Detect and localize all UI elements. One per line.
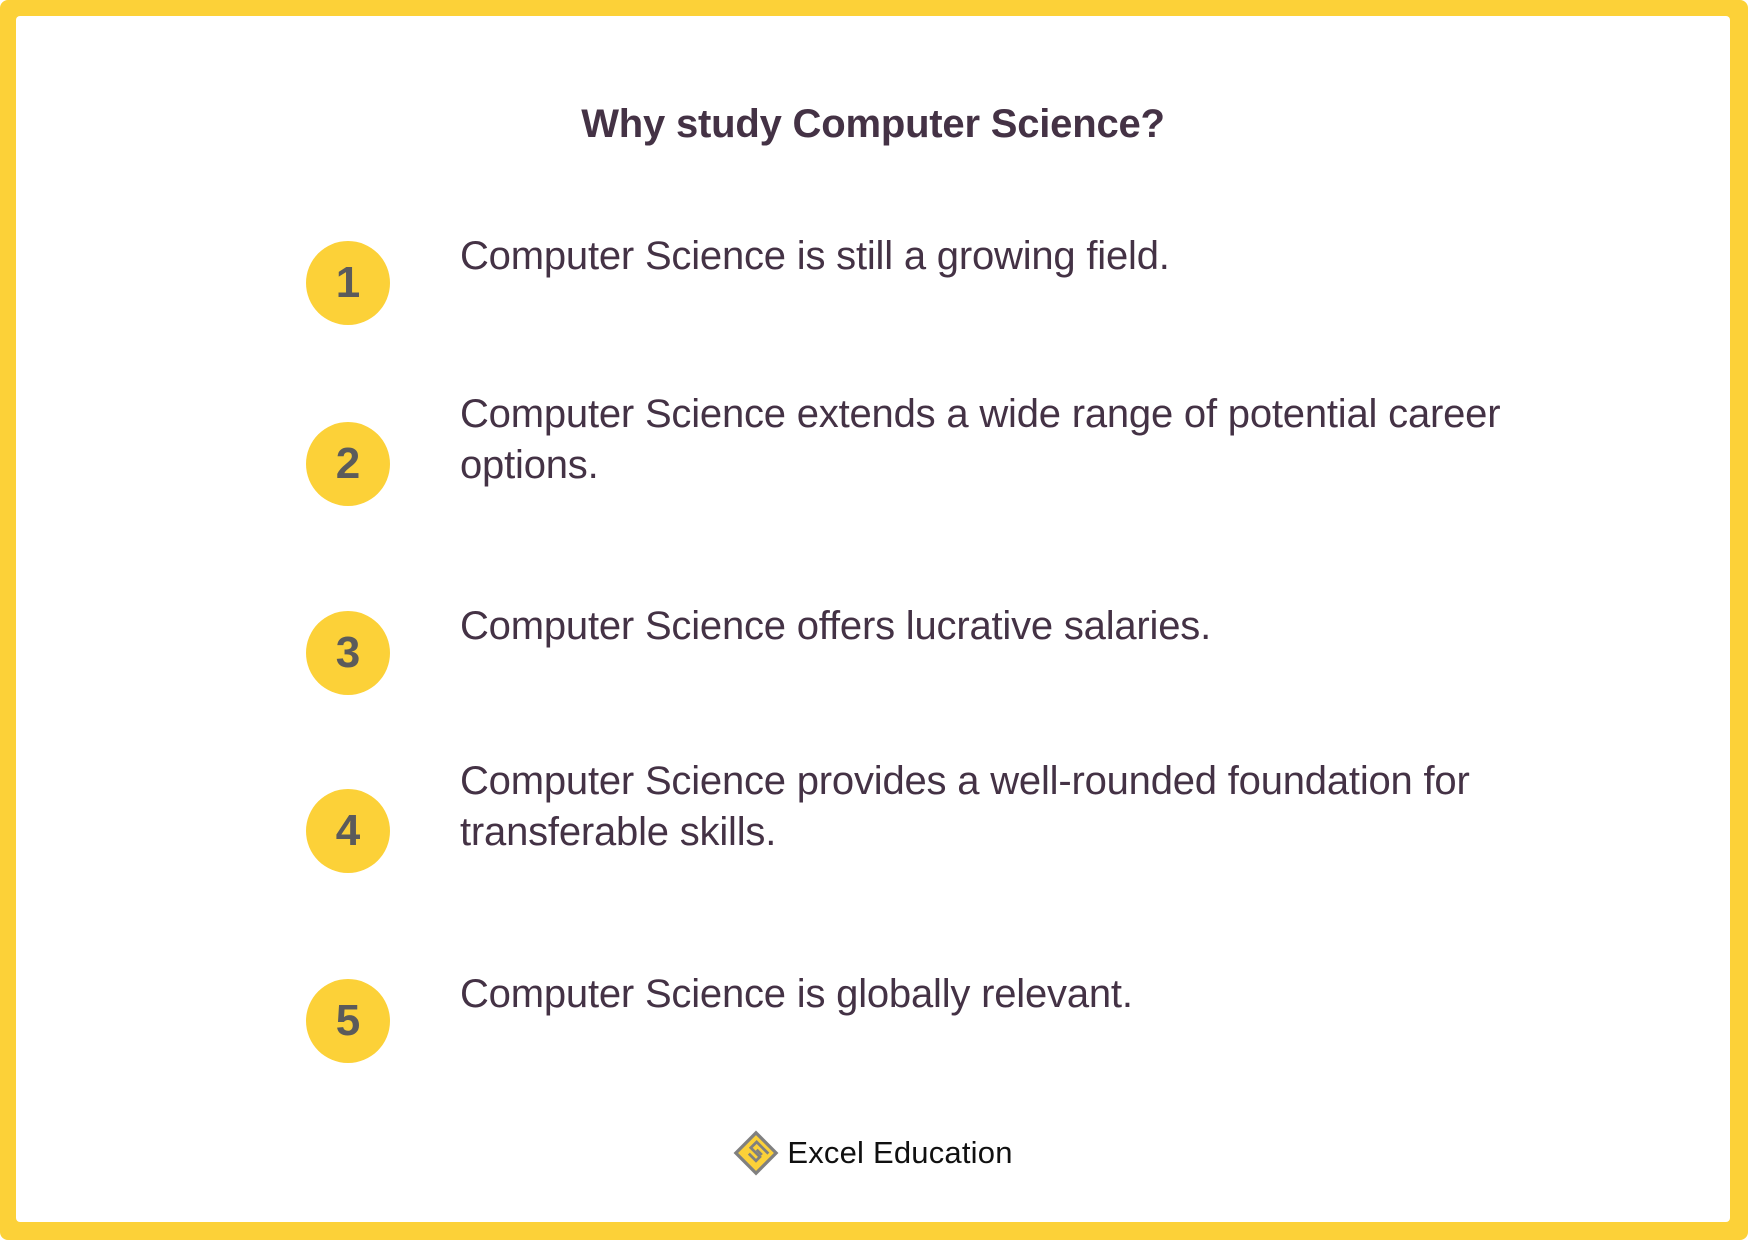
logo-text: Excel Education (787, 1135, 1012, 1171)
reason-text: Computer Science is globally relevant. (460, 969, 1570, 1020)
reason-text: Computer Science offers lucrative salari… (460, 601, 1570, 652)
reason-text: Computer Science is still a growing fiel… (460, 231, 1570, 282)
reason-number-badge: 2 (306, 422, 390, 506)
reason-number-badge: 5 (306, 979, 390, 1063)
reason-number-badge: 1 (306, 241, 390, 325)
reason-text: Computer Science provides a well-rounded… (460, 756, 1570, 858)
poster-frame: Why study Computer Science? 1 Computer S… (0, 0, 1748, 1240)
list-item: 4 Computer Science provides a well-round… (306, 746, 1620, 873)
reason-text: Computer Science extends a wide range of… (460, 389, 1570, 491)
list-item: 2 Computer Science extends a wide range … (306, 379, 1620, 506)
reason-number-badge: 4 (306, 789, 390, 873)
reason-number-badge: 3 (306, 611, 390, 695)
excel-education-diamond-icon (733, 1130, 779, 1176)
list-item: 3 Computer Science offers lucrative sala… (306, 591, 1620, 695)
poster-card: Why study Computer Science? 1 Computer S… (16, 16, 1730, 1222)
footer-branding: Excel Education (16, 1130, 1730, 1176)
page-title: Why study Computer Science? (16, 102, 1730, 147)
list-item: 1 Computer Science is still a growing fi… (306, 221, 1620, 325)
list-item: 5 Computer Science is globally relevant. (306, 959, 1620, 1063)
